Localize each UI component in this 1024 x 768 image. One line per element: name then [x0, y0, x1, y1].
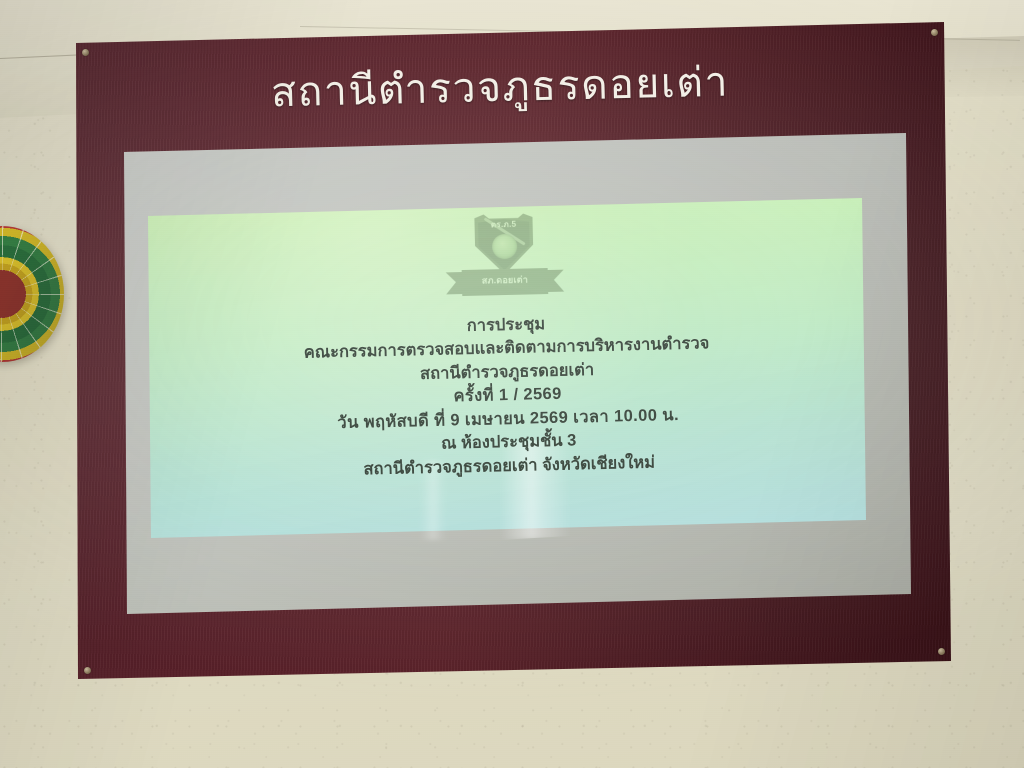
projection-screen	[0, 0, 1024, 768]
room-scene: สถานีตำรวจภูธรดอยเต่า ตร.ภ.5 สภ.ดอยเต่า …	[0, 0, 1024, 768]
